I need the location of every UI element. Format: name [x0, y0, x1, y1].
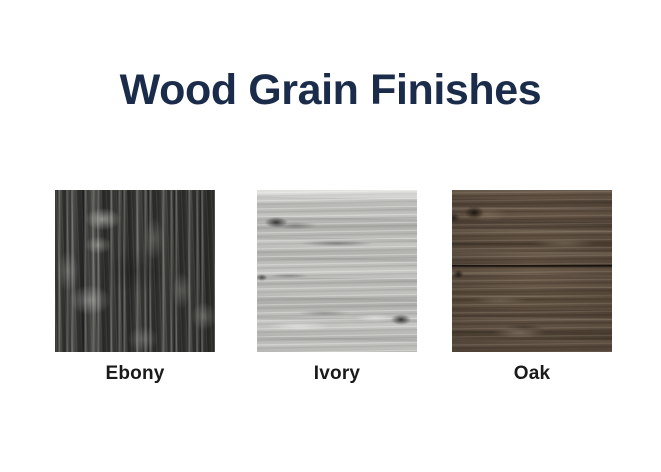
wood-swatch-row: Ebony Ivory Oak [0, 190, 661, 390]
swatch-item-oak[interactable]: Oak [452, 190, 612, 385]
ebony-wood-swatch[interactable] [55, 190, 215, 352]
ivory-knots [257, 190, 417, 352]
swatch-label-ebony: Ebony [55, 364, 215, 385]
page-title: Wood Grain Finishes [0, 66, 661, 114]
slide-canvas: Wood Grain Finishes Ebony Ivory [0, 0, 661, 472]
swatch-label-oak: Oak [452, 364, 612, 385]
oak-wood-swatch[interactable] [452, 190, 612, 352]
swatch-item-ivory[interactable]: Ivory [257, 190, 417, 385]
oak-plank-seam [452, 265, 612, 267]
swatch-item-ebony[interactable]: Ebony [55, 190, 215, 385]
ebony-fine-grain [55, 190, 215, 352]
oak-knots [452, 190, 612, 352]
swatch-label-ivory: Ivory [257, 364, 417, 385]
ivory-wood-swatch[interactable] [257, 190, 417, 352]
